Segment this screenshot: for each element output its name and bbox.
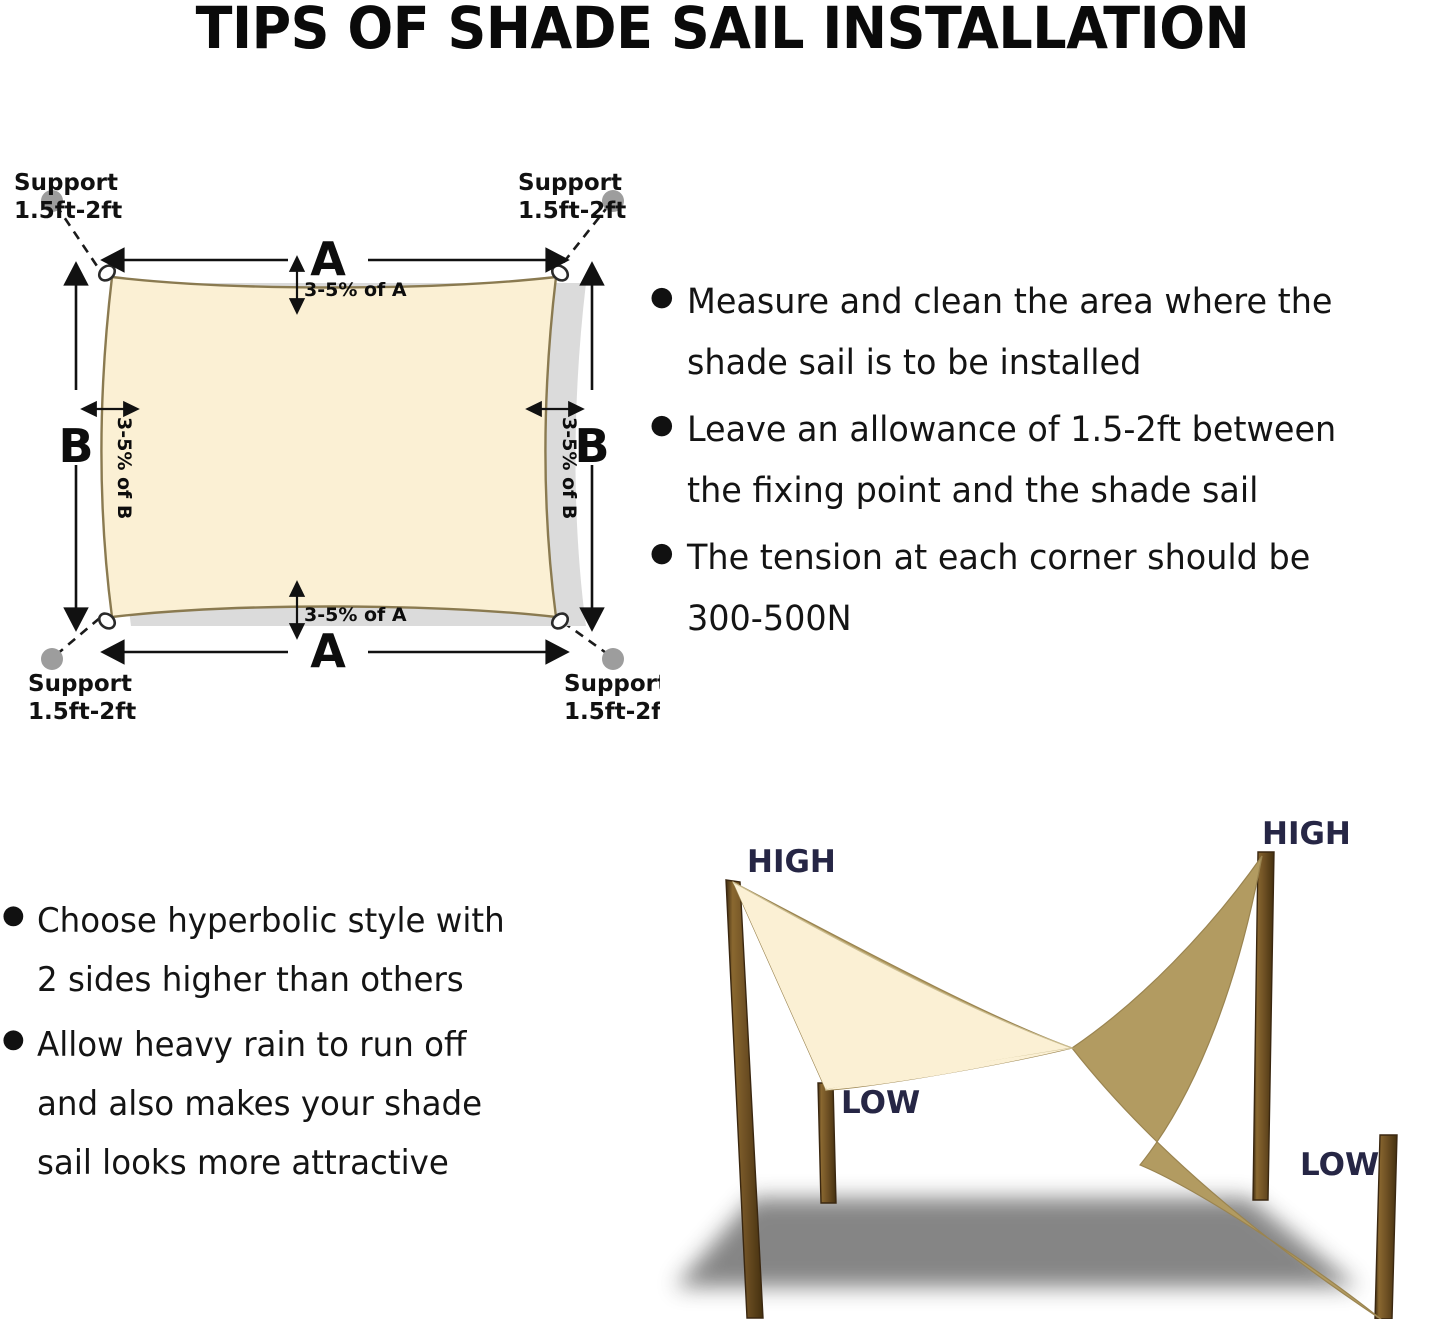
support-label-top-left-line2: 1.5ft-2ft — [14, 198, 122, 224]
dimension-label-a-bottom: A — [310, 624, 346, 678]
label-high-right: HIGH — [1262, 816, 1351, 852]
support-label-top-left-line1: Support — [14, 170, 118, 196]
label-high-left: HIGH — [747, 844, 836, 880]
tips-list-top: ● Measure and clean the area where the s… — [650, 272, 1445, 656]
rectangular-shade-sail-dimension-diagram: A 3-5% of A A 3-5% of A B 3-5% of B — [0, 165, 660, 725]
ground-shadow — [675, 1198, 1358, 1287]
list-item: ● Measure and clean the area where the s… — [650, 272, 1445, 394]
support-label-top-right-line1: Support — [518, 170, 622, 196]
list-item: ● The tension at each corner should be 3… — [650, 528, 1445, 650]
support-label-top-right-line2: 1.5ft-2ft — [518, 198, 626, 224]
support-label-bottom-right-line1: Support — [564, 671, 660, 697]
list-item: ● Choose hyperbolic style with 2 sides h… — [2, 892, 622, 1010]
list-item-line: 300-500N — [687, 599, 852, 639]
bullet-icon: ● — [2, 902, 25, 928]
list-item-text: Allow heavy rain to run off and also mak… — [37, 1016, 482, 1193]
shade-sail-body — [102, 277, 557, 617]
list-item: ● Leave an allowance of 1.5-2ft between … — [650, 400, 1445, 522]
curve-label-bottom: 3-5% of A — [304, 604, 407, 626]
list-item-line: the fixing point and the shade sail — [687, 471, 1258, 511]
post-low-left — [818, 1083, 836, 1203]
list-item-line: Allow heavy rain to run off — [37, 1025, 466, 1065]
list-item: ● Allow heavy rain to run off and also m… — [2, 1016, 622, 1193]
dimension-label-b-left: B — [58, 419, 93, 473]
page-title: TIPS OF SHADE SAIL INSTALLATION — [51, 0, 1395, 62]
support-label-top-left: Support 1.5ft-2ft — [14, 170, 122, 224]
list-item-text: Measure and clean the area where the sha… — [687, 272, 1332, 394]
support-label-bottom-right-line2: 1.5ft-2ft — [564, 699, 660, 725]
hyperbolic-shade-sail-illustration: HIGH HIGH LOW LOW — [640, 790, 1445, 1319]
list-item-line: shade sail is to be installed — [687, 343, 1141, 383]
curve-label-top: 3-5% of A — [304, 279, 407, 301]
bullet-icon: ● — [650, 539, 674, 566]
list-item-text: Leave an allowance of 1.5-2ft between th… — [687, 400, 1336, 522]
support-label-bottom-right: Support 1.5ft-2ft — [564, 671, 660, 725]
tips-list-bottom: ● Choose hyperbolic style with 2 sides h… — [2, 892, 622, 1199]
bullet-icon: ● — [650, 411, 674, 438]
list-item-line: sail looks more attractive — [37, 1143, 449, 1183]
list-item-line: Measure and clean the area where the — [687, 282, 1332, 322]
curve-label-left: 3-5% of B — [113, 417, 135, 519]
list-item-text: The tension at each corner should be 300… — [687, 528, 1310, 650]
tether-bottom-left — [56, 617, 101, 655]
support-dot-bottom-left — [41, 648, 63, 670]
bullet-icon: ● — [2, 1026, 25, 1052]
support-label-bottom-left: Support 1.5ft-2ft — [28, 671, 136, 725]
list-item-line: Leave an allowance of 1.5-2ft between — [687, 410, 1336, 450]
infographic-page: TIPS OF SHADE SAIL INSTALLATION — [0, 0, 1445, 1319]
list-item-line: Choose hyperbolic style with — [37, 901, 505, 941]
support-label-bottom-left-line2: 1.5ft-2ft — [28, 699, 136, 725]
list-item-line: and also makes your shade — [37, 1084, 482, 1124]
label-low-left: LOW — [841, 1085, 920, 1121]
list-item-text: Choose hyperbolic style with 2 sides hig… — [37, 892, 505, 1010]
list-item-line: The tension at each corner should be — [687, 538, 1310, 578]
curve-label-right: 3-5% of B — [558, 417, 580, 519]
post-high-right — [1253, 852, 1274, 1200]
list-item-line: 2 sides higher than others — [37, 960, 464, 1000]
bullet-icon: ● — [650, 283, 674, 310]
support-label-bottom-left-line1: Support — [28, 671, 132, 697]
label-low-right: LOW — [1300, 1147, 1379, 1183]
dimension-label-a-top: A — [310, 232, 346, 286]
support-dot-bottom-right — [602, 648, 624, 670]
